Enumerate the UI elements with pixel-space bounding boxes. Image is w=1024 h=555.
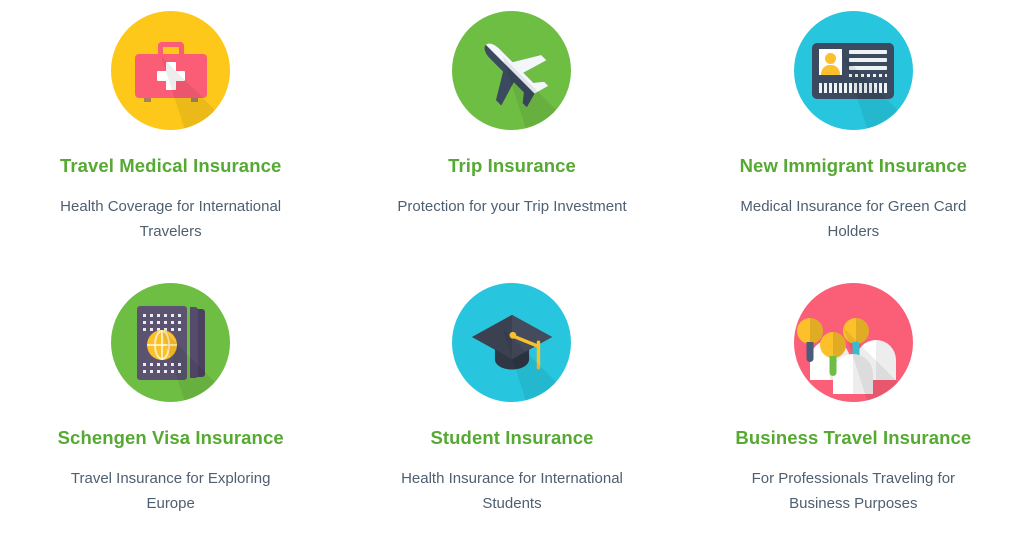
medical-kit-icon[interactable] — [111, 11, 230, 130]
id-text-line — [849, 58, 887, 62]
card-title: Student Insurance — [430, 429, 593, 448]
airplane-icon[interactable] — [452, 11, 571, 130]
passport-globe — [147, 330, 177, 360]
card-trip-insurance[interactable]: Trip Insurance Protection for your Trip … — [341, 0, 682, 272]
passport-icon[interactable] — [111, 283, 230, 402]
card-subtitle: Protection for your Trip Investment — [397, 194, 626, 220]
id-dotted-line — [849, 74, 887, 77]
card-title: Schengen Visa Insurance — [58, 429, 284, 448]
business-people-glyph — [810, 312, 896, 374]
kit-foot-right — [191, 98, 198, 102]
globe-meridian — [154, 330, 170, 360]
id-barcode — [819, 83, 887, 93]
kit-cross-horizontal — [157, 71, 185, 81]
id-card-glyph — [812, 43, 894, 99]
card-subtitle: Health Insurance for International Stude… — [387, 466, 637, 518]
card-new-immigrant-insurance[interactable]: New Immigrant Insurance Medical Insuranc… — [683, 0, 1024, 272]
passport-glyph — [137, 306, 205, 380]
card-travel-medical-insurance[interactable]: Travel Medical Insurance Health Coverage… — [0, 0, 341, 272]
airplane-glyph — [470, 29, 554, 113]
id-avatar-head — [825, 53, 836, 64]
card-business-travel-insurance[interactable]: Business Travel Insurance For Profession… — [683, 272, 1024, 555]
business-people-icon[interactable] — [794, 283, 913, 402]
medical-kit-glyph — [135, 42, 207, 100]
card-student-insurance[interactable]: Student Insurance Health Insurance for I… — [341, 272, 682, 555]
card-title: Travel Medical Insurance — [60, 157, 281, 176]
card-title: Trip Insurance — [448, 157, 576, 176]
card-subtitle: Travel Insurance for Exploring Europe — [46, 466, 296, 518]
graduation-cap-glyph — [469, 308, 555, 378]
passport-page-back — [197, 309, 205, 377]
card-title: New Immigrant Insurance — [740, 157, 967, 176]
kit-foot-left — [144, 98, 151, 102]
card-title: Business Travel Insurance — [735, 429, 971, 448]
card-subtitle: For Professionals Traveling for Business… — [728, 466, 978, 518]
id-text-line — [849, 66, 887, 70]
passport-page-front — [190, 307, 198, 378]
card-subtitle: Health Coverage for International Travel… — [46, 194, 296, 246]
graduation-cap-icon[interactable] — [452, 283, 571, 402]
insurance-product-grid: Travel Medical Insurance Health Coverage… — [0, 0, 1024, 555]
card-subtitle: Medical Insurance for Green Card Holders — [728, 194, 978, 246]
id-text-line — [849, 50, 887, 54]
id-card-icon[interactable] — [794, 11, 913, 130]
passport-cover — [137, 306, 187, 380]
card-schengen-visa-insurance[interactable]: Schengen Visa Insurance Travel Insurance… — [0, 272, 341, 555]
passport-dots-bottom — [143, 363, 181, 377]
